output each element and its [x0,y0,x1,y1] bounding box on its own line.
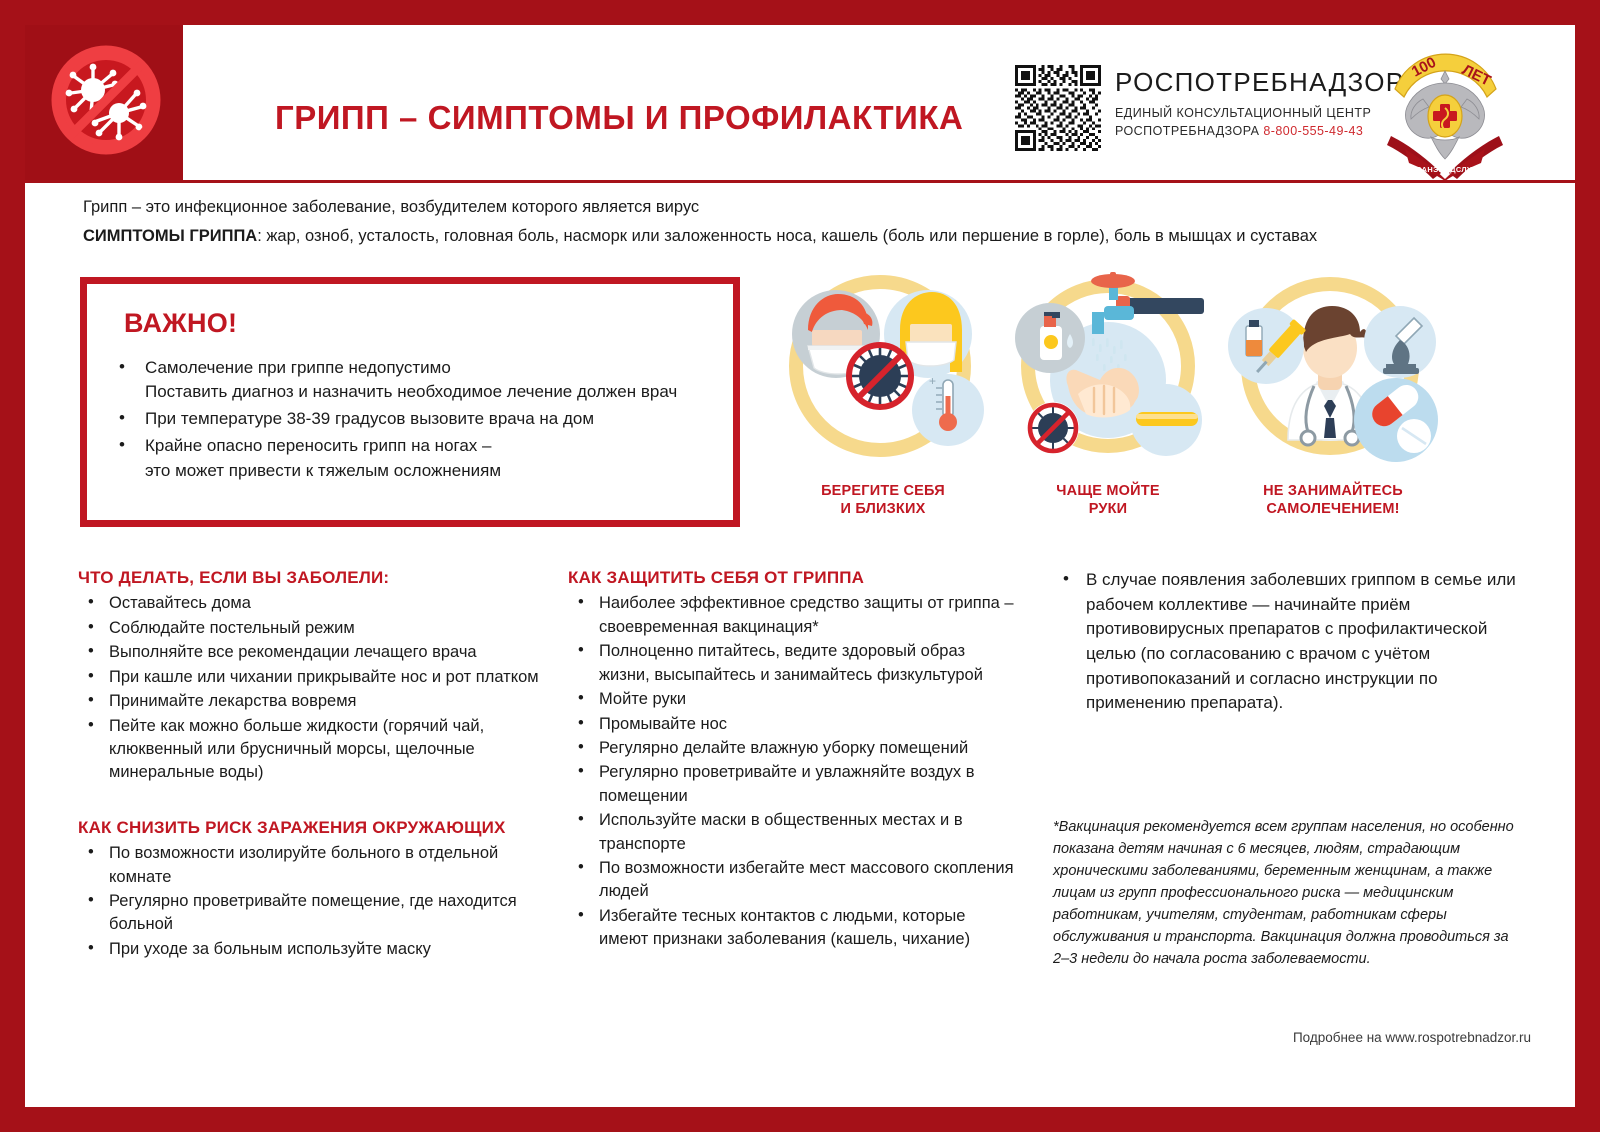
list-item: Промывайте нос [599,713,1018,736]
frame-top [0,0,1600,25]
section-title-what-to-do: ЧТО ДЕЛАТЬ, ЕСЛИ ВЫ ЗАБОЛЕЛИ: [78,568,548,588]
list-item: Используйте маски в общественных местах … [599,809,1018,856]
illustration-row: + БЕРЕГИТЕ СЕБЯ И БЛИЗКИХ [768,268,1508,528]
illustration-caption: ЧАЩЕ МОЙТЕ РУКИ [1008,482,1208,518]
page-title: ГРИПП – СИМПТОМЫ И ПРОФИЛАКТИКА [275,99,963,137]
important-item-line: это может привести к тяжелым осложнениям [145,461,501,480]
vaccine-icon [1228,308,1306,384]
rospotrebnadzor-emblem-icon: 100 ЛЕТ ГОССАНЭПИДСЛУЖБА [1383,41,1508,181]
no-virus-small-icon [1027,402,1079,454]
important-item-line: Самолечение при гриппе недопустимо [145,358,451,377]
important-item: При температуре 38-39 градусов вызовите … [141,407,741,431]
thermometer-icon: + [912,374,984,446]
important-title: ВАЖНО! [124,308,237,339]
no-self-medication-icon [1218,268,1448,478]
reduce-risk-list: По возможности изолируйте больного в отд… [78,842,548,961]
symptoms-label: СИМПТОМЫ ГРИППА [83,227,257,245]
important-item: Крайне опасно переносить грипп на ногах … [141,434,741,482]
important-item: Самолечение при гриппе недопустимо Поста… [141,356,741,404]
how-to-protect-list: Наиболее эффективное средство защиты от … [568,592,1018,951]
contact-block: РОСПОТРЕБНАДЗОР ЕДИНЫЙ КОНСУЛЬТАЦИОННЫЙ … [1015,65,1404,151]
list-item: Полноценно питайтесь, ведите здоровый об… [599,640,1018,687]
virus-badge [25,25,183,180]
list-item: Наиболее эффективное средство защиты от … [599,592,1018,639]
caption-line: САМОЛЕЧЕНИЕМ! [1218,500,1448,518]
no-virus-small-icon [846,342,914,410]
intro-line-1: Грипп – это инфекционное заболевание, во… [83,196,1503,220]
frame-left [0,0,25,1132]
pills-icon [1354,378,1438,462]
frame-bottom [0,1107,1600,1132]
symptoms-line: СИМПТОМЫ ГРИППА: жар, озноб, усталость, … [83,225,1503,249]
frame-right [1575,0,1600,1132]
svg-text:ГОССАНЭПИДСЛУЖБА: ГОССАНЭПИДСЛУЖБА [1400,165,1491,174]
list-item: Оставайтесь дома [109,592,548,615]
towel-icon [1130,384,1202,456]
caption-line: НЕ ЗАНИМАЙТЕСЬ [1218,482,1448,500]
list-item: Регулярно проветривайте и увлажняйте воз… [599,761,1018,808]
list-item: В случае появления заболевших гриппом в … [1086,568,1531,716]
list-item: При уходе за больным используйте маску [109,938,548,961]
vaccination-footnote: *Вакцинация рекомендуется всем группам н… [1053,816,1523,970]
list-item: Регулярно делайте влажную уборку помещен… [599,737,1018,760]
header-divider [25,180,1575,183]
list-item: Мойте руки [599,688,1018,711]
list-item: Пейте как можно больше жидкости (горячий… [109,715,548,785]
protect-yourself-icon: + [768,268,998,478]
column-right: В случае появления заболевших гриппом в … [1053,568,1531,716]
list-item: Выполняйте все рекомендации лечащего вра… [109,641,548,664]
hotline-phone[interactable]: 8-800-555-49-43 [1263,124,1363,138]
org-subtitle-line2: РОСПОТРЕБНАДЗОРА [1115,124,1259,138]
illustration-no-self-medication: НЕ ЗАНИМАЙТЕСЬ САМОЛЕЧЕНИЕМ! [1218,268,1448,518]
website-link[interactable]: Подробнее на www.rospotrebnadzor.ru [1053,1030,1531,1045]
poster-header: ГРИПП – СИМПТОМЫ И ПРОФИЛАКТИКА [25,25,1575,180]
caption-line: РУКИ [1008,500,1208,518]
caption-line: БЕРЕГИТЕ СЕБЯ [768,482,998,500]
family-outbreak-list: В случае появления заболевших гриппом в … [1053,568,1531,716]
microscope-icon [1364,306,1436,378]
list-item: Регулярно проветривайте помещение, где н… [109,890,548,937]
list-item: Принимайте лекарства вовремя [109,690,548,713]
qr-code-icon[interactable] [1015,65,1101,151]
section-title-reduce-risk: КАК СНИЗИТЬ РИСК ЗАРАЖЕНИЯ ОКРУЖАЮЩИХ [78,818,548,838]
soap-dispenser-icon [1015,303,1085,373]
list-item: Избегайте тесных контактов с людьми, кот… [599,905,1018,952]
important-list: Самолечение при гриппе недопустимо Поста… [107,356,741,486]
symptoms-text: : жар, озноб, усталость, головная боль, … [257,227,1317,245]
what-to-do-list: Оставайтесь дома Соблюдайте постельный р… [78,592,548,784]
column-middle: КАК ЗАЩИТИТЬ СЕБЯ ОТ ГРИППА Наиболее эфф… [568,568,1018,953]
illustration-protect-yourself: + БЕРЕГИТЕ СЕБЯ И БЛИЗКИХ [768,268,998,518]
illustration-caption: НЕ ЗАНИМАЙТЕСЬ САМОЛЕЧЕНИЕМ! [1218,482,1448,518]
org-subtitle-line1: ЕДИНЫЙ КОНСУЛЬТАЦИОННЫЙ ЦЕНТР [1115,105,1404,123]
poster-root: ГРИПП – СИМПТОМЫ И ПРОФИЛАКТИКА [0,0,1600,1132]
list-item: По возможности изолируйте больного в отд… [109,842,548,889]
svg-text:+: + [929,374,936,388]
important-item-line: Крайне опасно переносить грипп на ногах … [145,436,491,455]
section-title-how-to-protect: КАК ЗАЩИТИТЬ СЕБЯ ОТ ГРИППА [568,568,1018,588]
intro-text: Грипп – это инфекционное заболевание, во… [83,196,1503,254]
no-virus-icon [51,45,161,155]
column-left: ЧТО ДЕЛАТЬ, ЕСЛИ ВЫ ЗАБОЛЕЛИ: Оставайтес… [78,568,548,962]
illustration-caption: БЕРЕГИТЕ СЕБЯ И БЛИЗКИХ [768,482,998,518]
important-box: ВАЖНО! Самолечение при гриппе недопустим… [80,277,740,527]
list-item: Соблюдайте постельный режим [109,617,548,640]
important-item-line: Поставить диагноз и назначить необходимо… [145,382,677,401]
caption-line: И БЛИЗКИХ [768,500,998,518]
org-name: РОСПОТРЕБНАДЗОР [1115,69,1404,96]
wash-hands-icon [1008,268,1208,478]
list-item: По возможности избегайте мест массового … [599,857,1018,904]
illustration-wash-hands: ЧАЩЕ МОЙТЕ РУКИ [1008,268,1208,518]
list-item: При кашле или чихании прикрывайте нос и … [109,666,548,689]
caption-line: ЧАЩЕ МОЙТЕ [1008,482,1208,500]
